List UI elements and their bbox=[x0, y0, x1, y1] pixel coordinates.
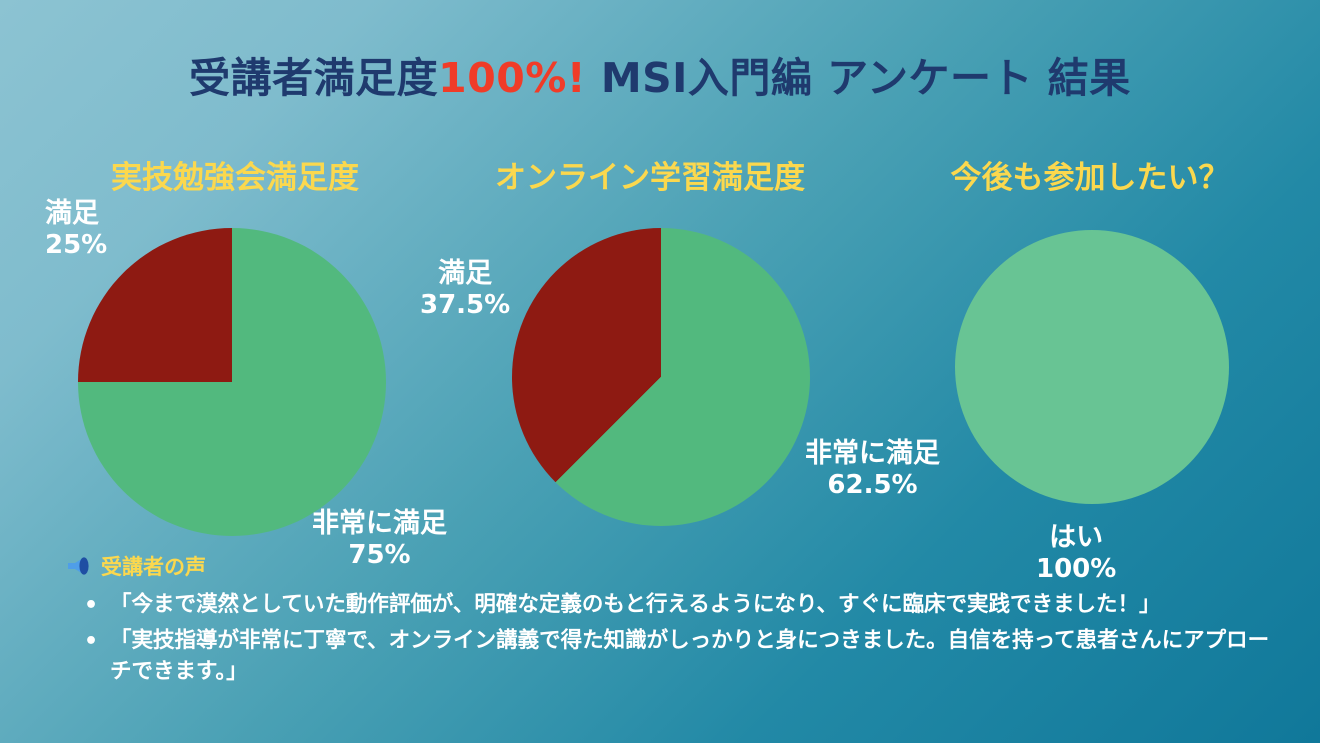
list-item-text: 「今まで漠然としていた動作評価が、明確な定義のもと行えるようになり、すぐに臨床で… bbox=[110, 590, 1270, 621]
title-prefix: 受講者満足度 bbox=[189, 54, 438, 102]
list-item-text: 「実技指導が非常に丁寧で、オンライン講義で得た知識がしっかりと身につきました。自… bbox=[110, 626, 1270, 687]
title-highlight: 100%! bbox=[438, 54, 586, 102]
section-heading-practical: 実技勉強会満足度 bbox=[60, 152, 410, 197]
list-bullet-icon: • bbox=[84, 626, 110, 657]
pie3-label-yes-name: はい bbox=[1036, 522, 1116, 554]
pie1-label-satisfied-name: 満足 bbox=[45, 198, 107, 230]
pie3-label-yes: はい 100% bbox=[1036, 522, 1116, 585]
pie-chart-online bbox=[512, 228, 810, 526]
pie1-label-very-satisfied-value: 75% bbox=[312, 540, 447, 571]
list-item: • 「今まで漠然としていた動作評価が、明確な定義のもと行えるようになり、すぐに臨… bbox=[84, 590, 1270, 621]
list-bullet-icon: • bbox=[84, 590, 110, 621]
participant-voices-label: 受講者の声 bbox=[101, 551, 206, 581]
pie-chart-rejoin bbox=[955, 230, 1229, 504]
megaphone-icon bbox=[66, 556, 92, 576]
pie1-label-satisfied: 満足 25% bbox=[45, 198, 107, 261]
pie2-label-very-satisfied-name: 非常に満足 bbox=[805, 438, 940, 470]
pie2-label-very-satisfied-value: 62.5% bbox=[805, 470, 940, 501]
participant-voices-heading: 受講者の声 bbox=[66, 551, 206, 581]
pie2-label-satisfied-value: 37.5% bbox=[420, 290, 510, 321]
title-suffix: MSI入門編 アンケート 結果 bbox=[586, 54, 1131, 102]
survey-results-slide: 受講者満足度100%! MSI入門編 アンケート 結果 実技勉強会満足度 オンラ… bbox=[0, 0, 1320, 743]
page-title: 受講者満足度100%! MSI入門編 アンケート 結果 bbox=[0, 44, 1320, 104]
pie2-label-very-satisfied: 非常に満足 62.5% bbox=[805, 438, 940, 501]
pie1-label-satisfied-value: 25% bbox=[45, 230, 107, 261]
section-heading-online: オンライン学習満足度 bbox=[455, 152, 845, 197]
list-item: • 「実技指導が非常に丁寧で、オンライン講義で得た知識がしっかりと身につきました… bbox=[84, 626, 1270, 687]
pie1-label-very-satisfied: 非常に満足 75% bbox=[312, 508, 447, 571]
pie-chart-practical bbox=[78, 228, 386, 536]
section-heading-rejoin: 今後も参加したい？ bbox=[890, 152, 1290, 197]
pie3-label-yes-value: 100% bbox=[1036, 554, 1116, 585]
pie1-label-very-satisfied-name: 非常に満足 bbox=[312, 508, 447, 540]
pie2-label-satisfied-name: 満足 bbox=[420, 258, 510, 290]
pie2-label-satisfied: 満足 37.5% bbox=[420, 258, 510, 321]
participant-voices-list: • 「今まで漠然としていた動作評価が、明確な定義のもと行えるようになり、すぐに臨… bbox=[84, 590, 1270, 692]
